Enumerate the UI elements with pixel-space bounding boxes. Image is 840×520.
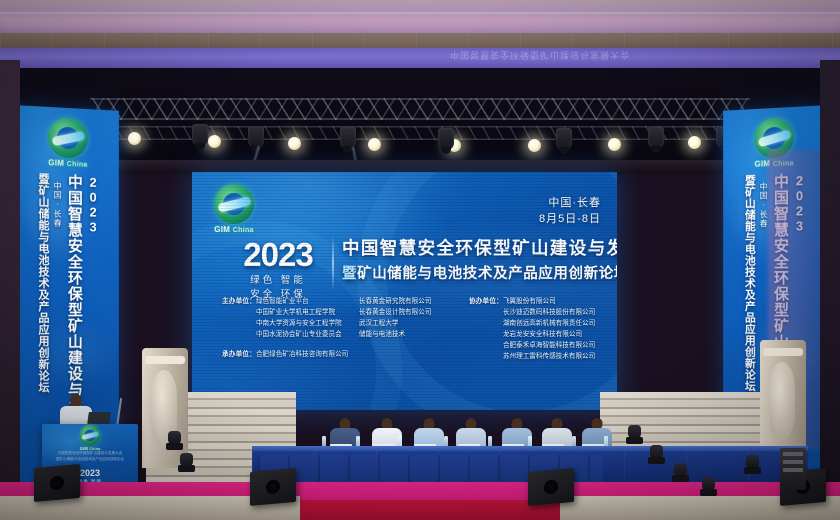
gim-swoosh-icon — [48, 117, 88, 159]
ceiling-cove-light — [0, 18, 840, 34]
cohost-label: 协办单位： — [469, 296, 503, 362]
par-light-icon — [288, 137, 301, 150]
light-base — [626, 437, 643, 444]
dark-ceiling-void — [0, 68, 840, 173]
moving-head-light-icon — [248, 126, 264, 148]
par-light-icon — [368, 138, 381, 151]
stage-monitor-speaker — [250, 468, 296, 506]
light-base — [672, 475, 689, 482]
par-light-icon — [208, 135, 221, 148]
event-credits: 主办单位： 绿色智能矿业平台 中国矿业大学机电工程学院 中南大学资源与安全工程学… — [222, 296, 603, 362]
light-base — [166, 443, 183, 450]
light-base — [700, 489, 717, 496]
moving-head-light-icon — [648, 444, 665, 464]
organizer-list: 合肥绿色矿冶科技咨询有限公司 — [256, 349, 348, 360]
gim-swoosh-icon — [80, 425, 101, 446]
host-list: 绿色智能矿业平台 中国矿业大学机电工程学院 中南大学资源与安全工程学院 中国水泥… — [256, 296, 342, 340]
balustrade-left — [142, 348, 188, 468]
light-base — [744, 467, 761, 474]
podium-laptop — [87, 412, 111, 424]
gim-wordmark: GIM China — [208, 225, 260, 234]
equipment-rack — [780, 448, 806, 490]
event-place-date: 中国·长春 8月5日-8日 — [539, 196, 601, 228]
par-light-icon — [528, 139, 541, 152]
event-dates: 8月5日-8日 — [539, 212, 601, 228]
cohost-list: 飞翼股份有限公司 长沙迪迈数码科技股份有限公司 湖南创远高新机械有限责任公司 龙… — [503, 296, 595, 362]
moving-head-light-icon — [340, 127, 356, 149]
event-place: 中国·长春 — [539, 196, 601, 212]
side-wall-left — [0, 60, 20, 520]
host-row: 主办单位： 绿色智能矿业平台 中国矿业大学机电工程学院 中南大学资源与安全工程学… — [222, 296, 349, 340]
host-label: 主办单位： — [222, 296, 256, 340]
moving-head-light-icon — [166, 430, 183, 450]
reflected-banner-text: 中国智慧安全环保型矿山建设与发展大会 — [330, 49, 750, 62]
ceiling-trim-line — [0, 12, 840, 14]
side-wall-right — [820, 60, 840, 520]
light-base — [648, 457, 665, 464]
podium-caption: 中国智慧安全环保型矿山建设与发展大会 暨矿山储能与电池技术及产品应用创新论坛 — [48, 450, 132, 462]
lighting-truss-upper — [90, 98, 750, 120]
stage-monitor-speaker — [34, 464, 80, 502]
event-title-sub: 暨矿山储能与电池技术及产品应用创新论坛 — [342, 265, 609, 283]
gim-china-logo: GIM China — [42, 117, 94, 169]
ceiling — [0, 0, 840, 34]
stage-photograph: 中国智慧安全环保型矿山建设与发展大会 GIM China 中国·长春 8月5 — [0, 0, 840, 520]
main-led-screen: GIM China 中国·长春 8月5日-8日 2023 绿色 智能 安全 环保… — [192, 172, 617, 410]
moving-head-light-icon — [192, 124, 208, 146]
credits-column-host-b: 长春黄金研究院有限公司 长春黄金设计院有限公司 武汉工程大学 储能与电池技术 — [359, 296, 459, 362]
par-light-icon — [688, 136, 701, 149]
event-title-main: 中国智慧安全环保型矿山建设与发展大会 — [342, 238, 609, 260]
gim-china-logo: GIM China — [76, 425, 103, 451]
event-titles: 中国智慧安全环保型矿山建设与发展大会 暨矿山储能与电池技术及产品应用创新论坛 — [342, 238, 609, 283]
banner-place: 中国·长春 — [52, 181, 63, 233]
cohost-row: 协办单位： 飞翼股份有限公司 长沙迪迈数码科技股份有限公司 湖南创远高新机械有限… — [469, 296, 603, 362]
organizer-row: 承办单位： 合肥绿色矿冶科技咨询有限公司 — [222, 349, 349, 360]
title-divider — [332, 236, 334, 291]
stage-monitor-speaker — [528, 468, 574, 506]
par-light-icon — [608, 138, 621, 151]
moving-head-light-icon — [744, 454, 761, 474]
moving-head-light-icon — [556, 128, 572, 150]
moving-head-light-icon — [648, 127, 664, 149]
moving-head-light-icon — [178, 452, 195, 472]
moving-head-light-icon — [700, 476, 717, 496]
moving-head-light-icon — [626, 424, 643, 444]
credits-column-cohost: 协办单位： 飞翼股份有限公司 长沙迪迈数码科技股份有限公司 湖南创远高新机械有限… — [469, 296, 603, 362]
carpet-runner — [300, 500, 560, 520]
gim-swoosh-icon — [214, 184, 254, 224]
banner-title-sub: 暨矿山储能与电池技术及产品应用创新论坛 — [35, 173, 51, 431]
moving-head-light-icon — [672, 462, 689, 482]
light-base — [178, 465, 195, 472]
event-year-block: 2023 绿色 智能 安全 环保 — [222, 238, 334, 303]
reflected-banner-strip: 中国智慧安全环保型矿山建设与发展大会 — [0, 48, 840, 70]
event-year: 2023 — [222, 238, 334, 271]
gim-china-logo: GIM China — [208, 184, 260, 234]
par-light-icon — [128, 132, 141, 145]
banner-year: 2023 — [86, 175, 101, 233]
credits-column-host: 主办单位： 绿色智能矿业平台 中国矿业大学机电工程学院 中南大学资源与安全工程学… — [222, 296, 349, 362]
gim-wordmark: GIM China — [42, 158, 94, 169]
organizer-label: 承办单位： — [222, 349, 256, 360]
balustrade-right — [760, 340, 806, 460]
moving-head-light-icon — [438, 128, 454, 150]
upper-wall-stone-band — [0, 33, 840, 49]
